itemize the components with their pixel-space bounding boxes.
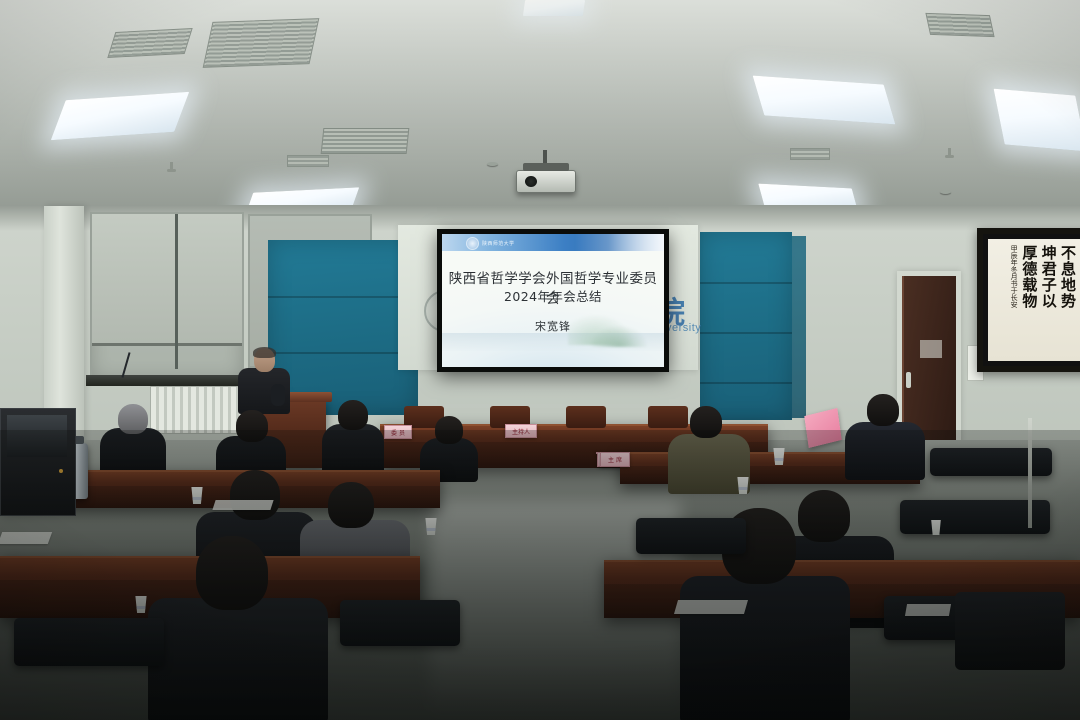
audience-body-olive xyxy=(668,434,750,494)
hvac-vent xyxy=(107,28,192,58)
calligraphy-column-3: 厚德载物 xyxy=(1021,245,1036,355)
floor-pole xyxy=(1028,418,1032,528)
projector-lens-icon xyxy=(525,176,537,187)
audience-person xyxy=(100,404,166,474)
head-table-chair[interactable] xyxy=(566,406,606,428)
av-equipment-cabinet xyxy=(0,408,76,516)
desk-paper xyxy=(905,604,951,616)
smoke-detector-icon xyxy=(487,162,498,166)
audience-head xyxy=(230,470,280,520)
presenter-person xyxy=(238,348,290,410)
name-placard: 主 席 xyxy=(600,452,630,467)
audience-head xyxy=(328,482,374,528)
audience-person xyxy=(420,416,478,478)
sprinkler-icon xyxy=(170,162,173,171)
conference-room-photo: 院 University 不息地势 坤君子以 厚德载物 甲辰年冬月书于长安 陕西… xyxy=(0,0,1080,720)
audience-person-foreground xyxy=(148,536,328,720)
ceiling-panel-light xyxy=(994,89,1080,152)
desk-paper xyxy=(212,500,273,510)
name-placard: 主持人 xyxy=(505,424,537,438)
audience-body xyxy=(845,422,925,480)
smoke-detector-icon xyxy=(940,190,951,194)
calligraphy-paper: 不息地势 坤君子以 厚德载物 甲辰年冬月书于长安 xyxy=(988,239,1080,361)
door-kick-plate xyxy=(920,340,942,358)
slide-logo-text: 陕西师范大学 xyxy=(482,240,514,247)
calligraphy-column-1: 不息地势 xyxy=(1060,245,1075,355)
slide-author-name: 宋宽锋 xyxy=(442,318,664,334)
teal-wall-panel xyxy=(700,232,792,420)
university-seal-icon xyxy=(466,237,479,250)
ceiling-projector xyxy=(516,170,576,193)
audience-head xyxy=(690,406,722,438)
blind-cord[interactable] xyxy=(175,214,178,369)
audience-chair[interactable] xyxy=(930,448,1052,476)
audience-head xyxy=(236,410,268,442)
laptop-bag xyxy=(955,592,1065,670)
calligraphy-column-2: 坤君子以 xyxy=(1040,245,1055,355)
audience-body xyxy=(680,576,850,720)
slide-subtitle: 2024年年会总结 xyxy=(442,286,664,305)
desk-paper xyxy=(0,532,52,544)
presentation-slide: 陕西师范大学 陕西省哲学学会外国哲学专业委员会 2024年年会总结 宋宽锋 xyxy=(442,234,664,367)
name-placard: 委 员 xyxy=(384,425,412,439)
audience-head xyxy=(196,536,268,610)
presenter-hair xyxy=(253,347,276,358)
audience-person xyxy=(322,400,384,470)
emergency-light xyxy=(287,155,329,167)
audience-chair[interactable] xyxy=(340,600,460,646)
audience-chair[interactable] xyxy=(14,618,164,666)
audience-chair[interactable] xyxy=(636,518,746,554)
door-handle[interactable] xyxy=(906,372,911,388)
calligraphy-artwork-frame: 不息地势 坤君子以 厚德载物 甲辰年冬月书于长安 xyxy=(977,228,1080,372)
hvac-vent xyxy=(321,128,410,154)
ceiling-panel-light xyxy=(523,0,585,16)
projection-screen: 陕西师范大学 陕西省哲学学会外国哲学专业委员会 2024年年会总结 宋宽锋 xyxy=(437,229,669,372)
hvac-vent xyxy=(925,13,994,37)
hvac-vent xyxy=(203,18,320,68)
calligraphy-signature: 甲辰年冬月书于长安 xyxy=(1010,245,1017,355)
av-monitor-screen xyxy=(7,415,67,457)
audience-head xyxy=(867,394,899,426)
desk-paper xyxy=(674,600,748,614)
teal-wall-panel xyxy=(268,240,418,415)
audience-body xyxy=(148,598,328,720)
audience-person xyxy=(845,394,925,478)
sprinkler-icon xyxy=(948,148,951,157)
emergency-light xyxy=(790,148,830,160)
audience-body xyxy=(322,424,384,474)
teal-wall-panel-edge xyxy=(792,236,806,418)
audience-head xyxy=(338,400,368,430)
window-blind xyxy=(92,214,242,346)
placard-spacer xyxy=(596,452,598,454)
audience-head xyxy=(435,416,463,444)
presenter-arm xyxy=(271,384,285,406)
power-led-icon xyxy=(59,469,63,473)
slide-university-logo: 陕西师范大学 xyxy=(466,237,514,250)
left-window xyxy=(90,212,244,381)
audience-head xyxy=(118,404,148,434)
